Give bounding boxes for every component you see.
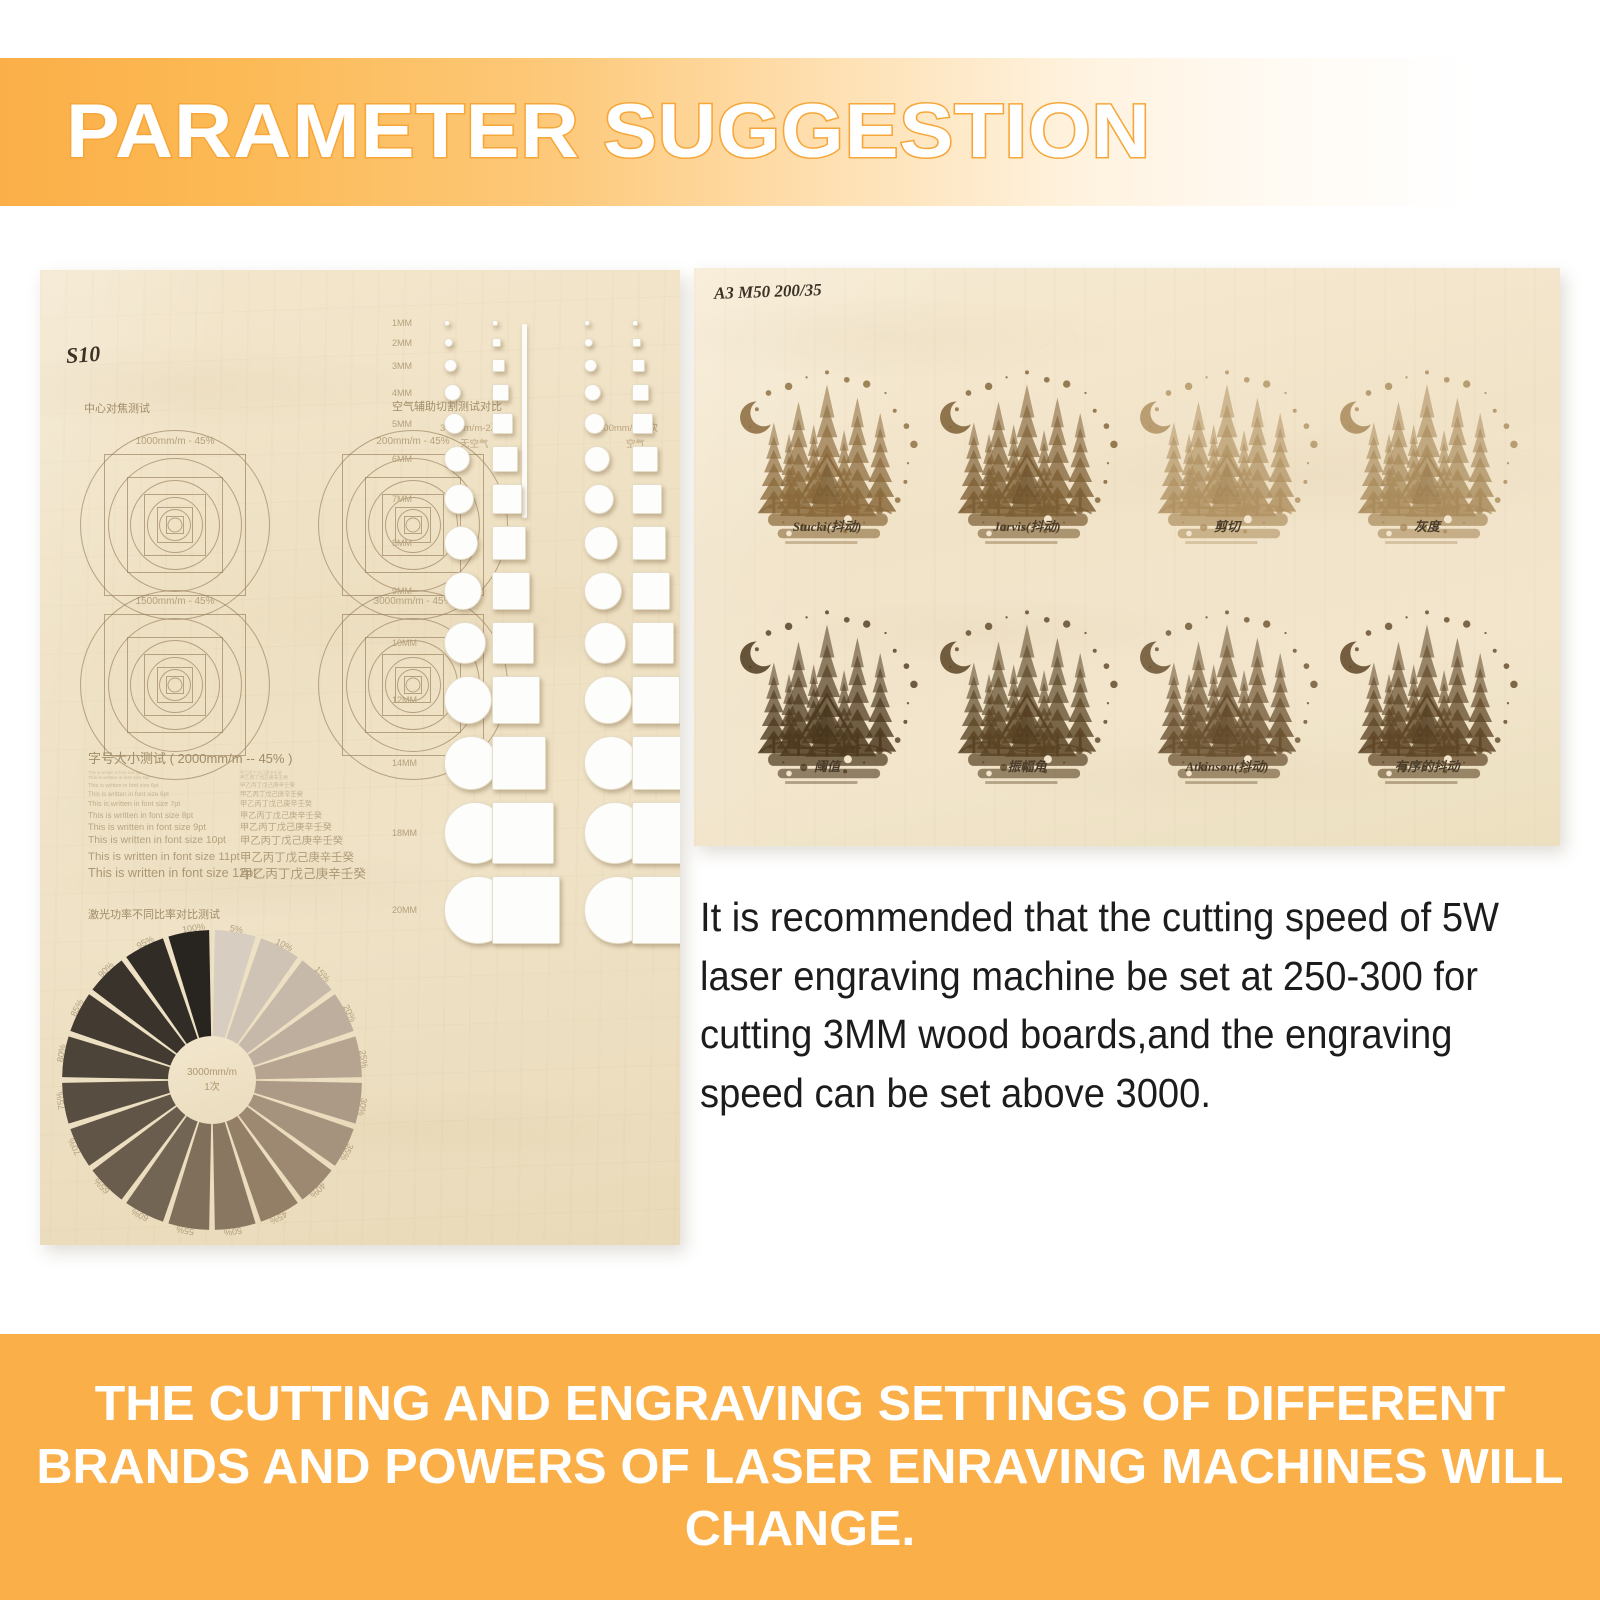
engraved-artwork-caption: Atkinson(抖动) (1132, 756, 1322, 775)
cut-hole-square (492, 413, 513, 434)
engraved-artwork-caption: 剪切 (1132, 516, 1322, 535)
cut-hole-circle (444, 622, 486, 664)
engraved-artwork-cell: Stucki(抖动) (732, 310, 922, 553)
cut-test-row: 2MM (392, 338, 664, 347)
cut-hole-square (632, 526, 666, 560)
engraved-artwork-caption: Jarvis(抖动) (932, 516, 1122, 535)
cut-hole-circle (444, 484, 474, 514)
engraved-artwork-caption: 灰度 (1332, 516, 1522, 535)
cut-hole-square (492, 484, 522, 514)
cut-size-label: 8MM (392, 538, 436, 548)
power-wheel-tick-label: 50% (223, 1225, 242, 1238)
cut-hole-square (632, 338, 641, 347)
cut-hole-square (492, 320, 498, 326)
cut-test-row: 4MM (392, 384, 664, 401)
cut-size-label: 7MM (392, 494, 436, 504)
cut-hole-circle (584, 622, 626, 664)
cut-hole-circle (584, 338, 593, 347)
cut-hole-circle (444, 446, 470, 472)
cut-hole-square (632, 446, 658, 472)
engraved-artwork-caption: 阈值 (732, 756, 922, 775)
engraved-artwork-cell: 剪切 (1132, 310, 1322, 553)
engraved-artwork-caption: 振幅角 (932, 756, 1122, 775)
cut-test-grid: 1MM2MM3MM4MM5MM6MM7MM8MM9MM10MM12MM14MM1… (392, 320, 664, 956)
cut-hole-square (632, 572, 670, 610)
test-board-left-photo: S10 中心对焦测试 1000mm/m - 45% 200mm/m - 45% … (40, 270, 680, 1245)
power-wheel-hub: 3000mm/m 1次 (168, 1036, 256, 1124)
cut-hole-circle (584, 320, 590, 326)
cut-test-row: 12MM (392, 676, 664, 724)
cut-hole-square (492, 622, 534, 664)
cut-hole-circle (584, 526, 618, 560)
font-size-test-cjk-line: 甲乙丙丁戊己庚辛壬癸 (240, 791, 390, 800)
cut-size-label: 12MM (392, 695, 436, 705)
cut-size-label: 3MM (392, 361, 436, 371)
cut-hole-circle (584, 736, 638, 790)
laser-power-wheel: 3000mm/m 1次 5%10%15%20%25%30%35%40%45%50… (62, 930, 362, 1230)
engraved-artwork-cell: 有序的抖动 (1332, 550, 1522, 793)
cut-hole-square (632, 676, 680, 724)
cut-test-row: 9MM (392, 572, 664, 610)
cut-hole-square (632, 484, 662, 514)
cut-size-label: 9MM (392, 586, 436, 596)
font-size-test-cjk-line: 甲乙丙丁戊己庚辛壬癸 (240, 821, 390, 834)
cut-hole-circle (584, 676, 632, 724)
cut-hole-circle (584, 384, 601, 401)
cut-test-row: 3MM (392, 359, 664, 372)
engraved-artwork-cell: 振幅角 (932, 550, 1122, 793)
font-size-test-cjk-line: 甲乙丙丁戊己庚辛壬癸 (240, 799, 390, 809)
cut-test-row: 6MM (392, 446, 664, 472)
handwritten-mark-s10: S10 (65, 341, 101, 369)
cut-hole-circle (444, 736, 498, 790)
cut-test-row: 8MM (392, 526, 664, 560)
cut-hole-square (492, 384, 509, 401)
engraved-artwork-cell: Jarvis(抖动) (932, 310, 1122, 553)
engraved-artwork-caption: 有序的抖动 (1332, 756, 1522, 775)
cut-size-label: 1MM (392, 318, 436, 328)
cut-test-row: 7MM (392, 484, 664, 514)
font-size-test-cjk-line: 甲乙丙丁戊己庚辛壬癸 (240, 834, 390, 849)
font-size-test-cjk-line: 甲乙丙丁戊己庚辛壬癸 (240, 776, 390, 783)
cut-test-row: 10MM (392, 622, 664, 664)
font-size-test-cjk-line: 甲乙丙丁戊己庚辛壬癸 (240, 849, 390, 865)
cut-hole-square (492, 736, 546, 790)
cut-hole-square (492, 526, 526, 560)
cut-hole-square (492, 359, 505, 372)
font-size-test-cjk-column: 甲乙丙丁戊己庚辛壬癸甲乙丙丁戊己庚辛壬癸甲乙丙丁戊己庚辛壬癸甲乙丙丁戊己庚辛壬癸… (240, 770, 390, 883)
cut-hole-square (632, 736, 680, 790)
power-wheel-tick-label: 5% (229, 923, 243, 935)
cut-hole-circle (584, 359, 597, 372)
cut-hole-circle (444, 320, 450, 326)
cut-hole-circle (444, 572, 482, 610)
wheel-section-heading: 激光功率不同比率对比测试 (88, 906, 220, 922)
font-section-heading: 字号大小测试 ( 2000mm/m -- 45% ) (88, 748, 292, 767)
cut-hole-square (492, 876, 560, 944)
engraved-artwork-cell: 灰度 (1332, 310, 1522, 553)
wheel-hub-pass: 1次 (204, 1080, 220, 1095)
cut-hole-square (492, 802, 554, 864)
cut-hole-circle (584, 413, 605, 434)
cut-hole-circle (444, 526, 478, 560)
engraved-artwork-cell: 阈值 (732, 550, 922, 793)
footer-banner: THE CUTTING AND ENGRAVING SETTINGS OF DI… (0, 1334, 1600, 1600)
cut-hole-square (632, 622, 674, 664)
cut-hole-square (492, 338, 501, 347)
cut-size-label: 2MM (392, 338, 436, 348)
engraved-artwork-cell: Atkinson(抖动) (1132, 550, 1322, 793)
cut-size-label: 14MM (392, 758, 436, 768)
header-banner: PARAMETER SUGGESTION (0, 58, 1600, 206)
engraved-artwork-caption: Stucki(抖动) (732, 516, 922, 535)
page-title: PARAMETER SUGGESTION (66, 80, 1151, 184)
cut-hole-square (492, 446, 518, 472)
cut-hole-square (492, 676, 540, 724)
cut-hole-circle (584, 572, 622, 610)
cut-hole-square (632, 359, 645, 372)
engraved-board-right-photo: A3 M50 200/35 Stucki(抖动) (694, 268, 1560, 846)
infographic-page: PARAMETER SUGGESTION S10 中心对焦测试 1000mm/m… (0, 0, 1600, 1600)
cut-hole-circle (584, 484, 614, 514)
cut-size-label: 5MM (392, 419, 436, 429)
cut-hole-circle (444, 413, 465, 434)
font-size-test-cjk-line: 甲乙丙丁戊己庚辛壬癸 (240, 810, 390, 822)
cut-test-row: 18MM (392, 802, 664, 864)
recommendation-paragraph: It is recommended that the cutting speed… (700, 888, 1518, 1123)
cut-size-label: 18MM (392, 828, 436, 838)
cut-test-row: 14MM (392, 736, 664, 790)
cut-test-row: 20MM (392, 876, 664, 944)
cut-test-row: 1MM (392, 320, 664, 326)
cut-hole-square (492, 572, 530, 610)
cut-test-row: 5MM (392, 413, 664, 434)
footer-disclaimer: THE CUTTING AND ENGRAVING SETTINGS OF DI… (20, 1373, 1581, 1561)
cut-hole-circle (444, 338, 453, 347)
cut-hole-square (632, 876, 680, 944)
cut-size-label: 4MM (392, 388, 436, 398)
cut-hole-circle (444, 676, 492, 724)
font-size-test-cjk-line: 甲乙丙丁戊己庚辛壬癸 (240, 865, 390, 883)
power-wheel-tick-label: 55% (175, 1224, 194, 1237)
cut-hole-circle (584, 446, 610, 472)
ring-section-heading: 中心对焦测试 (84, 400, 150, 416)
power-wheel-tick-label: 30% (356, 1097, 369, 1116)
cut-size-label: 20MM (392, 905, 436, 915)
wheel-hub-speed: 3000mm/m (187, 1065, 237, 1080)
cut-hole-circle (444, 384, 461, 401)
handwritten-mark-a3m50: A3 M50 200/35 (714, 280, 822, 304)
power-wheel-tick-label: 25% (357, 1049, 370, 1068)
cut-size-label: 6MM (392, 454, 436, 464)
cut-hole-square (632, 413, 653, 434)
cut-hole-circle (444, 359, 457, 372)
cut-size-label: 10MM (392, 638, 436, 648)
cut-hole-square (632, 802, 680, 864)
font-size-test-cjk-line: 甲乙丙丁戊己庚辛壬癸 (240, 783, 390, 791)
cut-hole-square (632, 320, 638, 326)
cut-hole-square (632, 384, 649, 401)
